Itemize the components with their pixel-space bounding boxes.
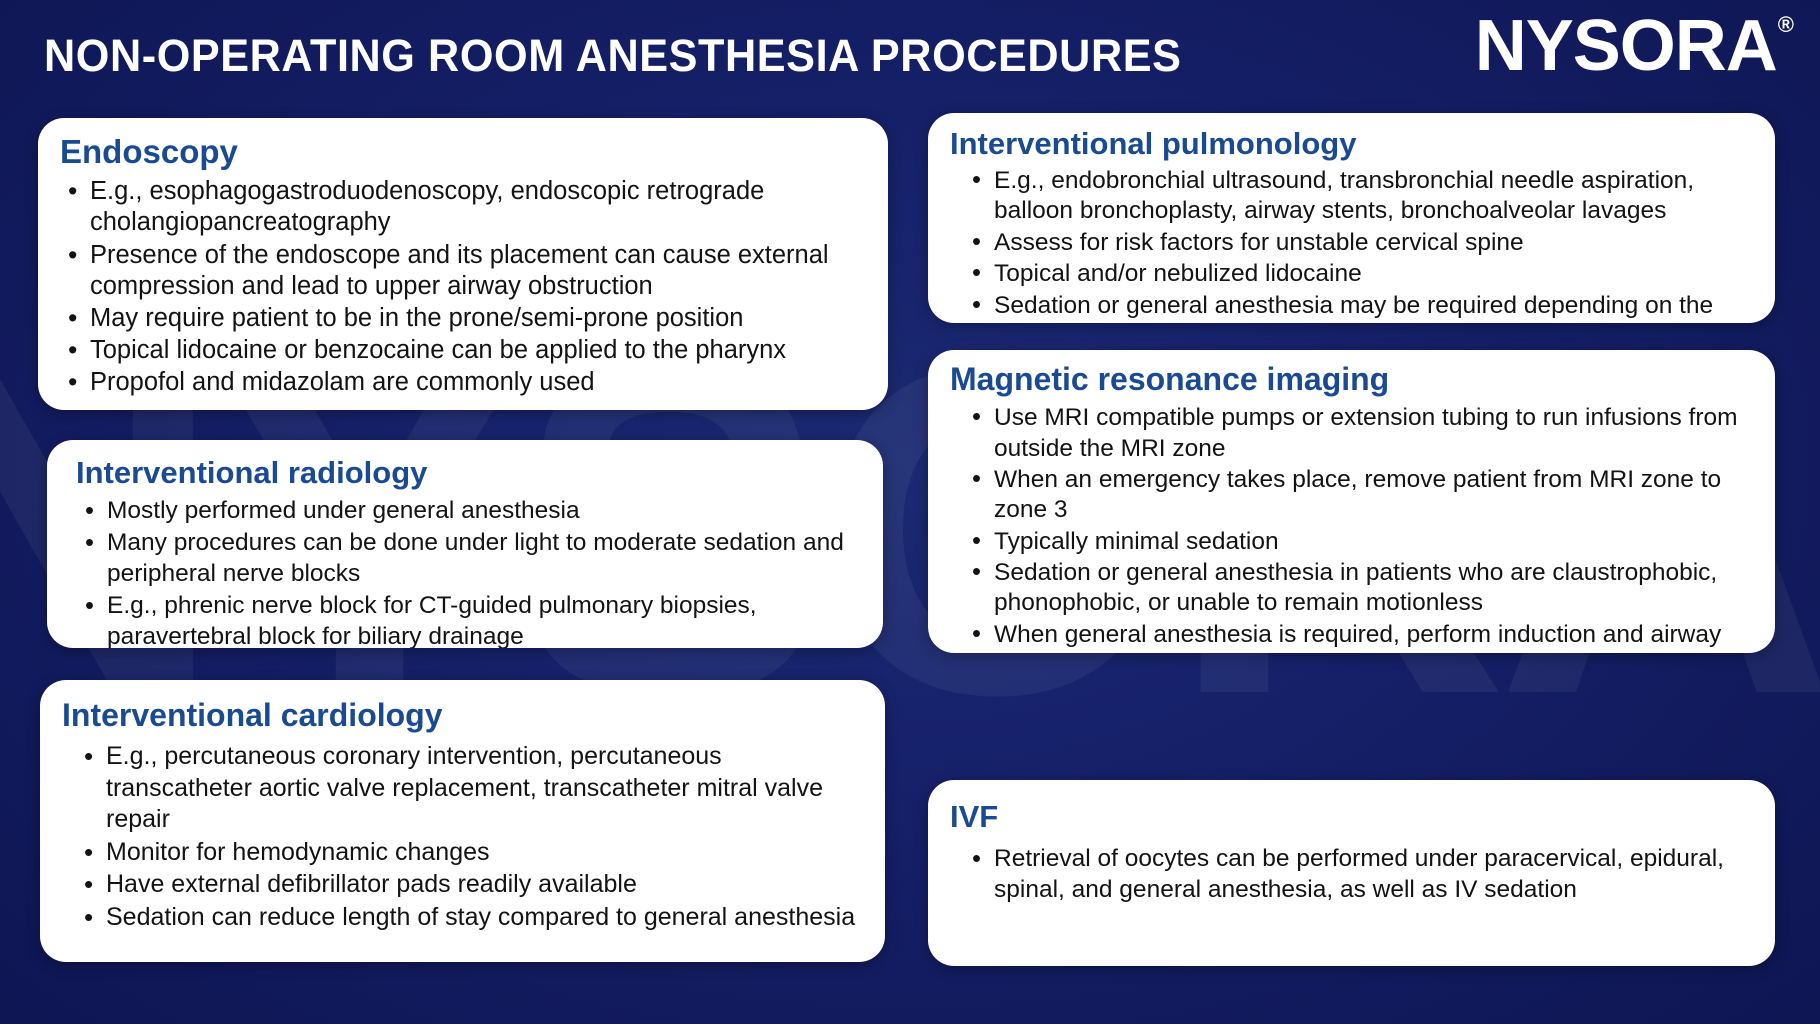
card-title-ivf: IVF bbox=[950, 800, 1753, 834]
registered-trademark-icon: ® bbox=[1778, 12, 1793, 37]
list-item: Monitor for hemodynamic changes bbox=[76, 837, 859, 869]
list-item: E.g., percutaneous coronary intervention… bbox=[76, 741, 859, 836]
card-interventional-cardiology: Interventional cardiology E.g., percutan… bbox=[40, 680, 885, 962]
bullet-list-interventional-cardiology: E.g., percutaneous coronary intervention… bbox=[62, 741, 859, 933]
list-item: Sedation or general anesthesia may be re… bbox=[964, 291, 1753, 323]
card-title-interventional-pulmonology: Interventional pulmonology bbox=[950, 127, 1753, 161]
list-item: Sedation or general anesthesia in patien… bbox=[964, 558, 1753, 619]
list-item: Use MRI compatible pumps or extension tu… bbox=[964, 403, 1753, 464]
list-item: E.g., phrenic nerve block for CT-guided … bbox=[77, 591, 857, 648]
brand-wordmark: NYSORA bbox=[1475, 6, 1777, 86]
card-title-magnetic-resonance-imaging: Magnetic resonance imaging bbox=[950, 362, 1753, 397]
list-item: When general anesthesia is required, per… bbox=[964, 620, 1753, 653]
list-item: Typically minimal sedation bbox=[964, 527, 1753, 557]
card-magnetic-resonance-imaging: Magnetic resonance imaging Use MRI compa… bbox=[928, 350, 1775, 653]
list-item: Have external defibrillator pads readily… bbox=[76, 869, 859, 901]
card-title-interventional-cardiology: Interventional cardiology bbox=[62, 698, 859, 733]
bullet-list-magnetic-resonance-imaging: Use MRI compatible pumps or extension tu… bbox=[950, 403, 1753, 653]
page-header: NON-OPERATING ROOM ANESTHESIA PROCEDURES… bbox=[0, 0, 1820, 112]
list-item: May require patient to be in the prone/s… bbox=[60, 303, 862, 334]
list-item: E.g., endobronchial ultrasound, transbro… bbox=[964, 166, 1753, 227]
list-item: Topical lidocaine or benzocaine can be a… bbox=[60, 335, 862, 366]
bullet-list-endoscopy: E.g., esophagogastroduodenoscopy, endosc… bbox=[60, 176, 862, 398]
list-item: When an emergency takes place, remove pa… bbox=[964, 465, 1753, 526]
page-title: NON-OPERATING ROOM ANESTHESIA PROCEDURES bbox=[44, 30, 1182, 82]
card-interventional-radiology: Interventional radiology Mostly performe… bbox=[47, 440, 883, 648]
list-item: Assess for risk factors for unstable cer… bbox=[964, 228, 1753, 258]
list-item: Retrieval of oocytes can be performed un… bbox=[964, 844, 1753, 906]
list-item: Mostly performed under general anesthesi… bbox=[77, 496, 857, 527]
list-item: Propofol and midazolam are commonly used bbox=[60, 367, 862, 398]
card-title-interventional-radiology: Interventional radiology bbox=[76, 456, 857, 490]
list-item: Presence of the endoscope and its placem… bbox=[60, 240, 862, 302]
list-item: Sedation can reduce length of stay compa… bbox=[76, 902, 859, 934]
list-item: Topical and/or nebulized lidocaine bbox=[964, 259, 1753, 289]
list-item: E.g., esophagogastroduodenoscopy, endosc… bbox=[60, 176, 862, 238]
bullet-list-ivf: Retrieval of oocytes can be performed un… bbox=[950, 844, 1753, 906]
nysora-logo: NYSORA® bbox=[1475, 10, 1792, 82]
infographic-page: NYSORA© NON-OPERATING ROOM ANESTHESIA PR… bbox=[0, 0, 1820, 1024]
list-item: Many procedures can be done under light … bbox=[77, 528, 857, 590]
bullet-list-interventional-pulmonology: E.g., endobronchial ultrasound, transbro… bbox=[950, 166, 1753, 323]
card-title-endoscopy: Endoscopy bbox=[60, 134, 862, 170]
bullet-list-interventional-radiology: Mostly performed under general anesthesi… bbox=[69, 496, 857, 648]
card-interventional-pulmonology: Interventional pulmonology E.g., endobro… bbox=[928, 113, 1775, 323]
card-endoscopy: Endoscopy E.g., esophagogastroduodenosco… bbox=[38, 118, 888, 410]
card-ivf: IVF Retrieval of oocytes can be performe… bbox=[928, 780, 1775, 966]
